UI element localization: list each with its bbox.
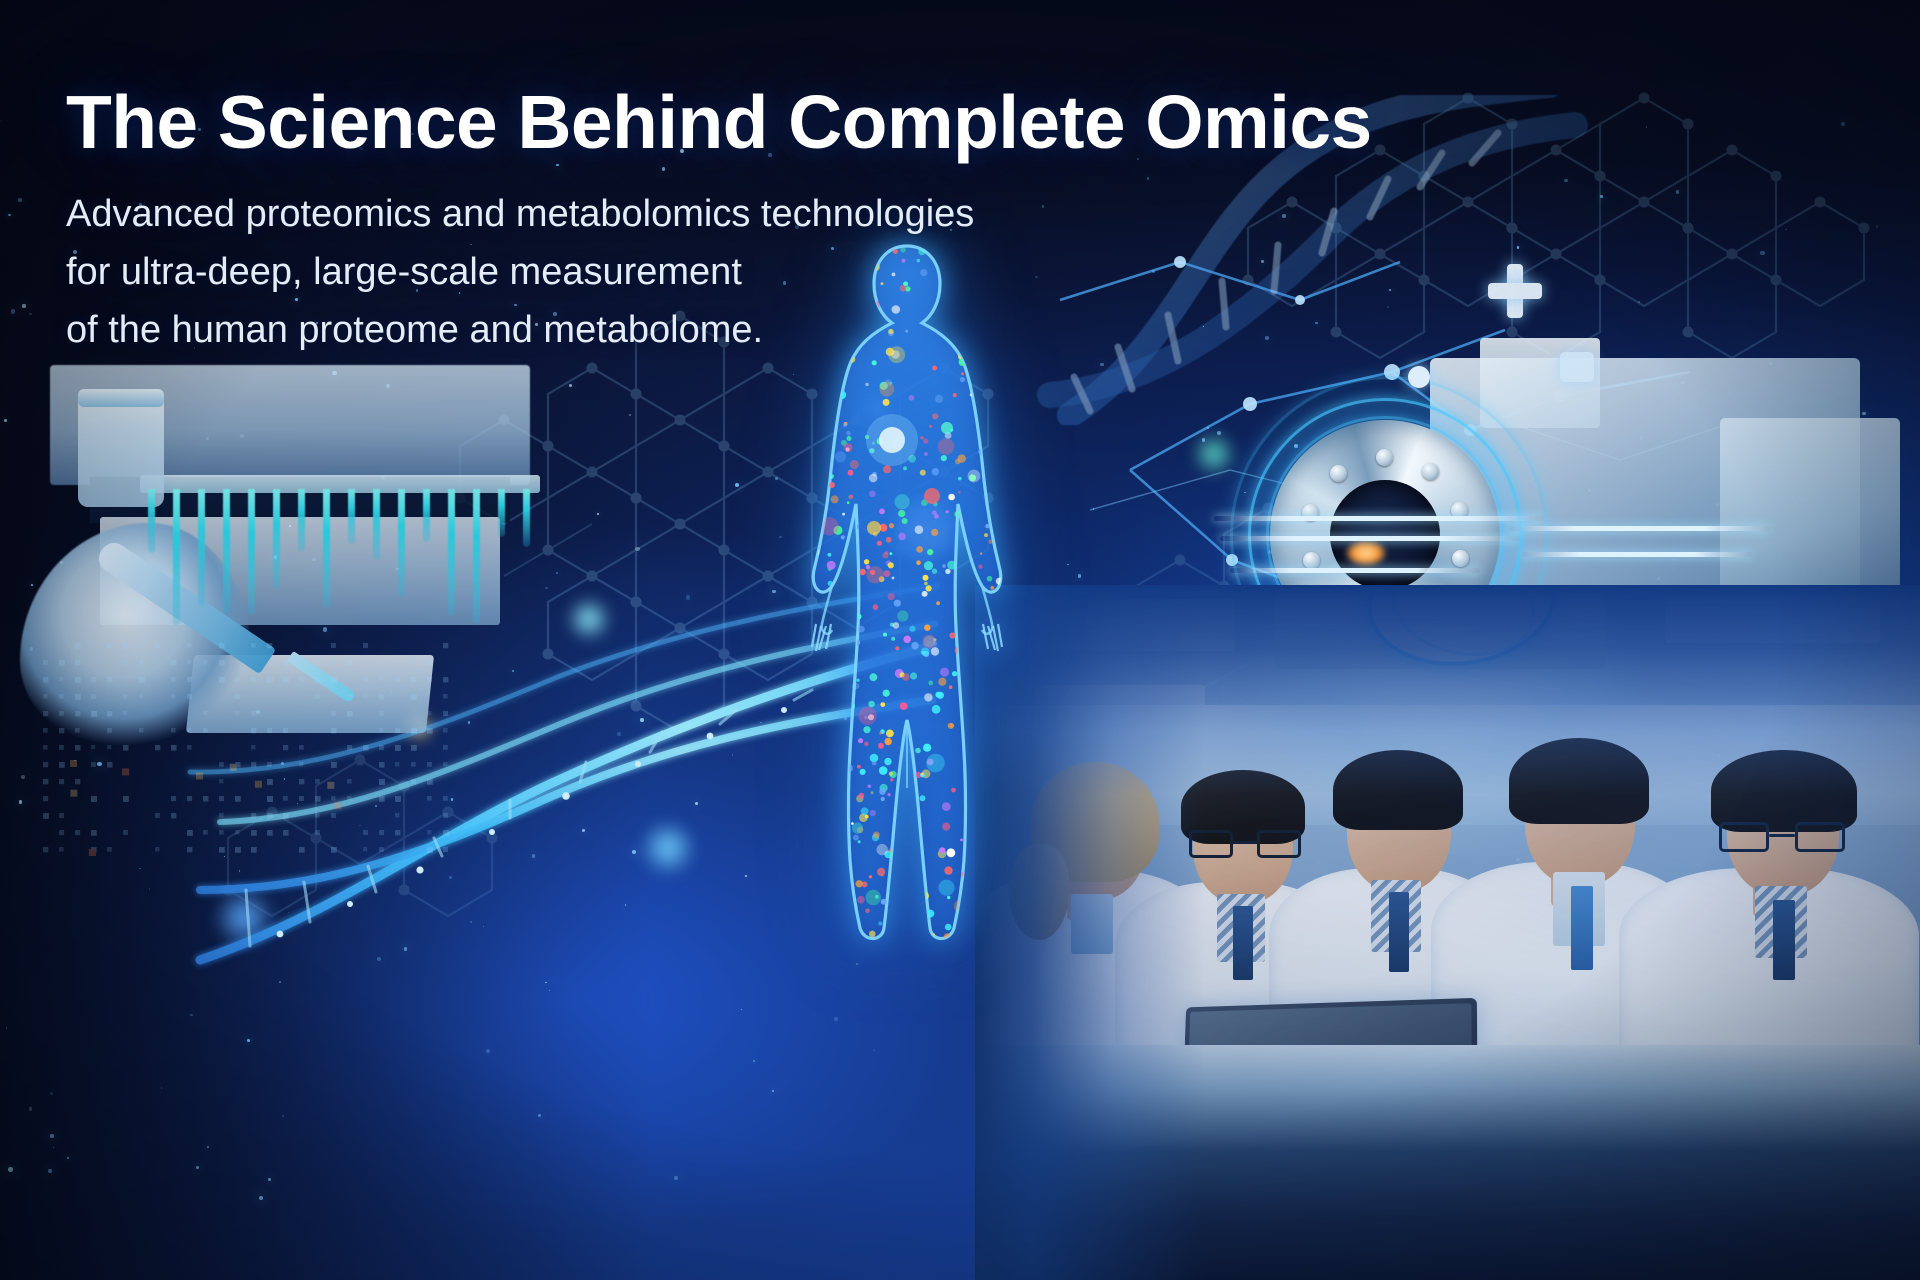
pipette-tip	[198, 489, 205, 605]
instrument-light-bar	[1214, 516, 1544, 521]
particle	[48, 1169, 52, 1173]
particle	[1203, 326, 1204, 327]
pipette-tip	[498, 489, 505, 537]
particle	[8, 214, 10, 216]
pipette-tip	[298, 489, 305, 552]
digital-pixel-grid	[40, 640, 470, 870]
pipette-tip	[223, 489, 230, 613]
particle	[1387, 306, 1389, 308]
pipette-tip	[348, 489, 355, 544]
pipette-tip	[248, 489, 255, 615]
particle	[53, 1147, 54, 1148]
particle	[161, 1087, 162, 1088]
particle	[1078, 574, 1081, 577]
particle	[1217, 431, 1221, 435]
particle	[1147, 177, 1149, 179]
particle	[640, 718, 644, 722]
particle	[1517, 246, 1519, 248]
particle	[582, 829, 585, 832]
instrument-light-bar	[1230, 568, 1480, 573]
particle	[29, 313, 31, 315]
particle	[449, 876, 452, 879]
particle	[247, 1039, 250, 1042]
particle	[753, 1060, 754, 1061]
page-title: The Science Behind Complete Omics	[66, 84, 1566, 161]
pipette-tip	[423, 489, 430, 542]
particle	[1100, 363, 1104, 367]
instrument-light-bar	[1220, 536, 1520, 541]
particle	[470, 921, 472, 923]
instrument-light-bar	[1510, 526, 1770, 531]
subtitle-line: of the human proteome and metabolome.	[66, 302, 1086, 360]
particle	[1760, 251, 1764, 255]
particle	[532, 854, 535, 857]
pipette-tip	[173, 489, 180, 625]
pipette-tip	[373, 489, 380, 560]
particle	[735, 483, 739, 487]
hero-banner: The Science Behind Complete Omics Advanc…	[0, 0, 1920, 1280]
particle	[632, 850, 636, 854]
page-subtitle: Advanced proteomics and metabolomics tec…	[66, 186, 1086, 359]
pipette-tip	[323, 489, 330, 608]
pipette-tip	[273, 489, 280, 589]
pipette-tip	[398, 489, 405, 597]
pipette-tip	[473, 489, 480, 624]
particle	[635, 547, 639, 551]
subtitle-line: Advanced proteomics and metabolomics tec…	[66, 186, 1086, 244]
particle	[772, 1090, 773, 1091]
bokeh-glow	[1192, 432, 1236, 476]
particle	[556, 572, 558, 574]
particle	[686, 595, 690, 599]
particle	[856, 963, 857, 964]
medical-cross-icon	[1488, 264, 1542, 318]
particle	[1282, 214, 1286, 218]
particle	[873, 1050, 875, 1052]
particle	[1261, 260, 1264, 263]
subtitle-line: for ultra-deep, large-scale measurement	[66, 244, 1086, 302]
particle	[1600, 195, 1603, 198]
particle	[1202, 438, 1206, 442]
pipette-tip	[448, 489, 455, 616]
particle	[50, 1134, 54, 1138]
network-node-square	[1560, 352, 1594, 382]
particle	[377, 957, 381, 961]
scientists-reviewing-data	[975, 585, 1920, 1280]
network-node-circle	[1408, 366, 1430, 388]
particle	[19, 800, 23, 804]
particle	[597, 513, 599, 515]
particle	[674, 1176, 678, 1180]
pipette-tip	[148, 489, 155, 553]
particle	[259, 1196, 263, 1200]
instrument-light-bar	[1522, 552, 1752, 557]
particle	[625, 904, 627, 906]
pipette-tip	[523, 489, 530, 547]
particle	[8, 1167, 12, 1171]
particle	[11, 309, 15, 313]
particle	[282, 1115, 284, 1117]
particle	[1676, 190, 1680, 194]
particle	[0, 120, 1, 121]
particle	[67, 1157, 69, 1159]
particle	[22, 304, 26, 308]
